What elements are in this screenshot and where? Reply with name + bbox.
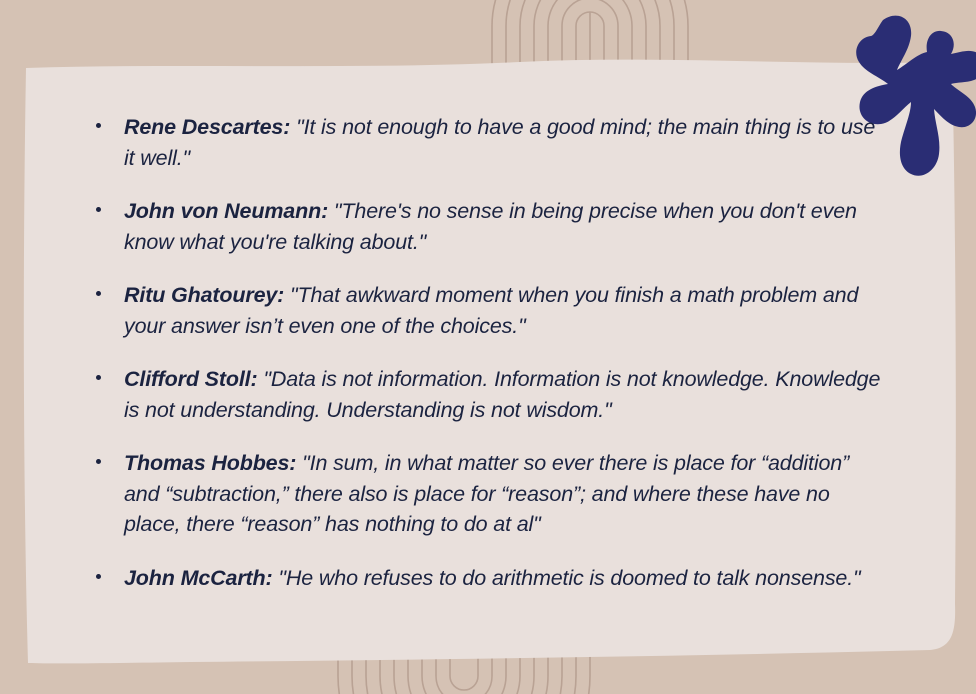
quote-author: Thomas Hobbes: bbox=[124, 451, 296, 475]
list-item: Clifford Stoll: "Data is not information… bbox=[88, 364, 888, 425]
quote-author: Clifford Stoll: bbox=[124, 367, 258, 391]
bullet-icon bbox=[96, 375, 101, 380]
list-item: John McCarth: "He who refuses to do arit… bbox=[88, 563, 888, 594]
bullet-icon bbox=[96, 123, 101, 128]
bullet-icon bbox=[96, 574, 101, 579]
bullet-icon bbox=[96, 459, 101, 464]
list-item: John von Neumann: "There's no sense in b… bbox=[88, 196, 888, 257]
quote-author: Ritu Ghatourey: bbox=[124, 283, 284, 307]
concentric-arches-top-icon bbox=[482, 0, 698, 72]
quote-author: Rene Descartes: bbox=[124, 115, 290, 139]
bullet-icon bbox=[96, 291, 101, 296]
list-item: Rene Descartes: "It is not enough to hav… bbox=[88, 112, 888, 173]
quote-list: Rene Descartes: "It is not enough to hav… bbox=[88, 112, 888, 593]
quote-author: John McCarth: bbox=[124, 566, 273, 590]
quote-text: "He who refuses to do arithmetic is doom… bbox=[278, 566, 860, 590]
bullet-icon bbox=[96, 207, 101, 212]
list-item: Thomas Hobbes: "In sum, in what matter s… bbox=[88, 448, 888, 540]
slide-canvas: Rene Descartes: "It is not enough to hav… bbox=[0, 0, 976, 694]
list-item: Ritu Ghatourey: "That awkward moment whe… bbox=[88, 280, 888, 341]
quote-author: John von Neumann: bbox=[124, 199, 328, 223]
concentric-arches-bottom-icon bbox=[330, 624, 598, 694]
